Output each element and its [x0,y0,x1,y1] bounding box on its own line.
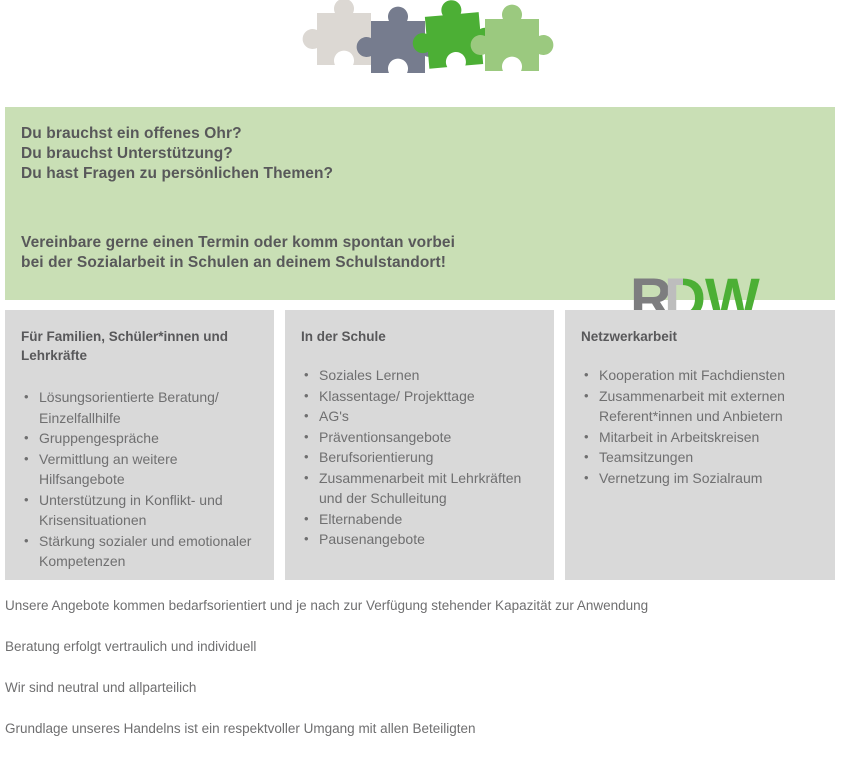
puzzle-graphic-header [0,0,843,100]
footer-notes: Unsere Angebote kommen bedarfsorientiert… [5,598,835,762]
list-item: Zusammenarbeit mit Lehrkräften und der S… [299,468,540,509]
footer-note: Grundlage unseres Handelns ist ein respe… [5,721,835,737]
puzzle-piece-light-green [470,5,553,71]
list-item: Vernetzung im Sozialraum [579,468,821,489]
list-item: Vermittlung an weitere Hilfsangebote [19,449,260,490]
card-title: Für Familien, Schüler*innen und Lehrkräf… [21,327,260,365]
footer-note: Beratung erfolgt vertraulich und individ… [5,639,835,655]
banner-question-line-3: Du hast Fragen zu persönlichen Themen? [21,164,333,184]
banner-questions: Du brauchst ein offenes Ohr? Du brauchst… [21,124,333,184]
list-item: Kooperation mit Fachdiensten [579,365,821,386]
card-in-der-schule: In der Schule Soziales Lernen Klassentag… [285,310,554,580]
card-list: Soziales Lernen Klassentage/ Projekttage… [299,365,540,550]
service-cards-row: Für Familien, Schüler*innen und Lehrkräf… [5,310,835,580]
list-item: Unterstützung in Konflikt- und Krisensit… [19,490,260,531]
list-item: Lösungsorientierte Beratung/ Einzelfallh… [19,387,260,428]
card-familien-schueler-lehrkraefte: Für Familien, Schüler*innen und Lehrkräf… [5,310,274,580]
banner-cta-line-1: Vereinbare gerne einen Termin oder komm … [21,233,455,253]
banner-cta-line-2: bei der Sozialarbeit in Schulen an deine… [21,253,455,273]
footer-note: Wir sind neutral und allparteilich [5,680,835,696]
footer-note: Unsere Angebote kommen bedarfsorientiert… [5,598,835,614]
green-call-to-action-banner: Du brauchst ein offenes Ohr? Du brauchst… [5,107,835,300]
list-item: Zusammenarbeit mit externen Referent*inn… [579,386,821,427]
list-item: Soziales Lernen [299,365,540,386]
card-title: Netzwerkarbeit [581,327,821,346]
card-list: Lösungsorientierte Beratung/ Einzelfallh… [19,387,260,572]
list-item: Elternabende [299,509,540,530]
card-list: Kooperation mit Fachdiensten Zusammenarb… [579,365,821,488]
card-netzwerkarbeit: Netzwerkarbeit Kooperation mit Fachdiens… [565,310,835,580]
banner-question-line-2: Du brauchst Unterstützung? [21,144,333,164]
list-item: Klassentage/ Projekttage [299,386,540,407]
list-item: Berufsorientierung [299,447,540,468]
banner-call-to-action: Vereinbare gerne einen Termin oder komm … [21,233,455,273]
list-item: Präventionsangebote [299,427,540,448]
list-item: Stärkung sozialer und emotionaler Kompet… [19,531,260,572]
banner-question-line-1: Du brauchst ein offenes Ohr? [21,124,333,144]
list-item: Mitarbeit in Arbeitskreisen [579,427,821,448]
puzzle-pieces-svg [287,0,557,86]
list-item: Teamsitzungen [579,447,821,468]
list-item: AG's [299,406,540,427]
card-title: In der Schule [301,327,540,346]
list-item: Pausenangebote [299,529,540,550]
list-item: Gruppengespräche [19,428,260,449]
